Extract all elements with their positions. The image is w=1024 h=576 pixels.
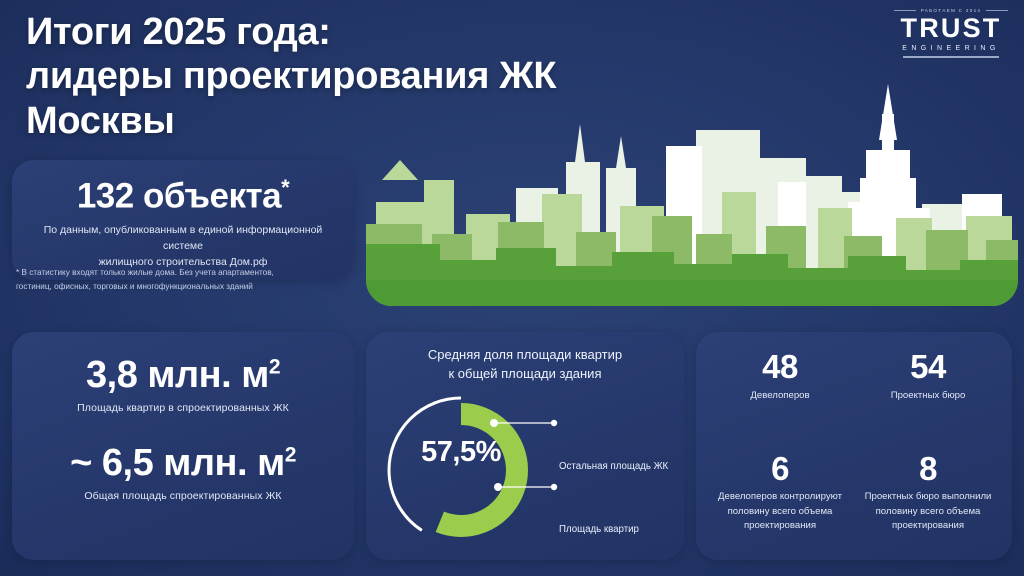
area-value-1: 3,8 млн. м2 (12, 356, 354, 394)
logo-rule-left (894, 10, 916, 11)
stat-item-top-bureaus: 8 Проектных бюро выполнили половину всег… (854, 452, 1002, 560)
stat-item-top-developers: 6 Девелоперов контролируют половину всег… (706, 452, 854, 560)
skyline-svg (366, 84, 1018, 306)
area-unit-1: 2 (269, 355, 280, 378)
city-skyline-illustration (366, 84, 1018, 306)
stats-grid: 48 Девелоперов 54 Проектных бюро 6 Девел… (696, 332, 1012, 560)
donut-chart-title: Средняя доля площади квартир к общей пло… (386, 346, 664, 384)
skyline-ground (366, 280, 1018, 306)
logo-divider (903, 56, 999, 58)
donut-legend-apartments: Площадь квартир (559, 523, 639, 537)
footnote-text: * В статистику входят только жилые дома.… (16, 266, 346, 293)
stat-label-top-developers: Девелоперов контролируют половину всего … (706, 490, 854, 533)
stat-label-top-bureaus: Проектных бюро выполнили половину всего … (854, 490, 1002, 533)
stat-number-bureaus: 54 (854, 350, 1002, 385)
area-item-2: ~ 6,5 млн. м2 Общая площадь спроектирова… (12, 414, 354, 502)
area-label-2: Общая площадь спроектированных ЖК (12, 490, 354, 502)
donut-chart-area: 57,5% Остальная площадь ЖК Площадь кварт… (366, 384, 684, 560)
objects-value: 132 объекта* (12, 175, 354, 217)
objects-description: По данным, опубликованным в единой инфор… (30, 222, 336, 271)
stat-number-top-developers: 6 (706, 452, 854, 487)
logo-subtitle: ENGINEERING (892, 45, 1010, 52)
area-value-1-text: 3,8 млн. м (86, 354, 269, 396)
stat-label-developers: Девелоперов (706, 389, 854, 403)
donut-center-value: 57,5% (394, 436, 528, 469)
stat-label-bureaus: Проектных бюро (854, 389, 1002, 403)
objects-asterisk: * (281, 175, 289, 200)
brand-logo: РАБОТАЕМ С 2014 TRUST ENGINEERING (892, 8, 1010, 58)
stat-number-top-bureaus: 8 (854, 452, 1002, 487)
logo-name: TRUST (892, 15, 1010, 42)
stat-item-bureaus: 54 Проектных бюро (854, 350, 1002, 430)
area-unit-2: 2 (285, 443, 296, 466)
area-value-2: ~ 6,5 млн. м2 (12, 444, 354, 482)
areas-card: 3,8 млн. м2 Площадь квартир в спроектиро… (12, 332, 354, 560)
logo-rule-right (986, 10, 1008, 11)
objects-value-text: 132 объекта (77, 177, 281, 216)
objects-card: 132 объекта* По данным, опубликованным в… (12, 160, 354, 280)
area-item-1: 3,8 млн. м2 Площадь квартир в спроектиро… (12, 332, 354, 414)
stats-card: 48 Девелоперов 54 Проектных бюро 6 Девел… (696, 332, 1012, 560)
area-value-2-text: ~ 6,5 млн. м (70, 442, 285, 484)
donut-chart-card: Средняя доля площади квартир к общей пло… (366, 332, 684, 560)
stat-number-developers: 48 (706, 350, 854, 385)
area-label-1: Площадь квартир в спроектированных ЖК (12, 402, 354, 414)
donut-legend-remaining: Остальная площадь ЖК (559, 460, 668, 474)
infographic-root: Итоги 2025 года: лидеры проектирования Ж… (0, 0, 1024, 576)
donut-arc-apartments (405, 414, 517, 526)
stat-item-developers: 48 Девелоперов (706, 350, 854, 430)
